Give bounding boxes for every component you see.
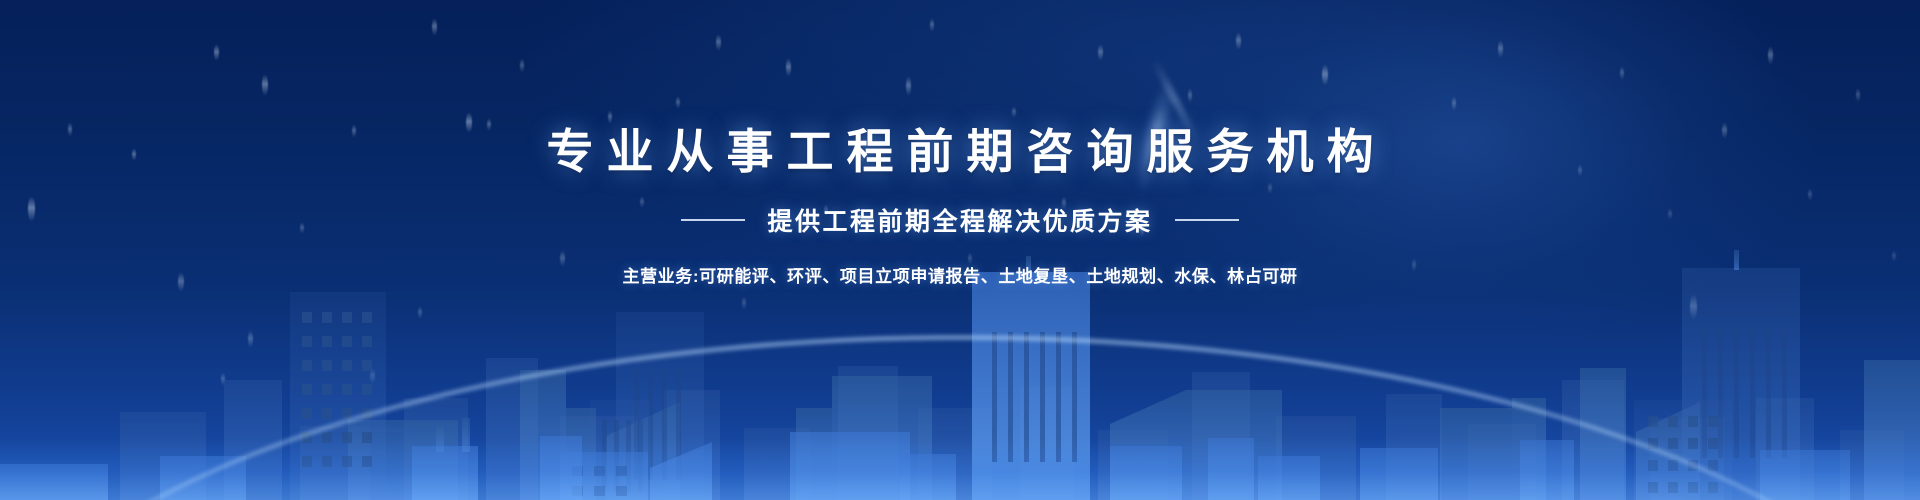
right-dash-decoration <box>1175 219 1239 221</box>
left-dash-decoration <box>681 219 745 221</box>
banner-services-line: 主营业务:可研能评、环评、项目立项申请报告、土地复垦、土地规划、水保、林占可研 <box>622 262 1297 287</box>
banner-subtitle: 提供工程前期全程解决优质方案 <box>767 202 1152 238</box>
banner-title: 专业从事工程前期咨询服务机构 <box>534 113 1387 182</box>
banner-subtitle-row: 提供工程前期全程解决优质方案 <box>681 202 1238 238</box>
hero-banner: 专业从事工程前期咨询服务机构 提供工程前期全程解决优质方案 主营业务:可研能评、… <box>0 0 1920 500</box>
